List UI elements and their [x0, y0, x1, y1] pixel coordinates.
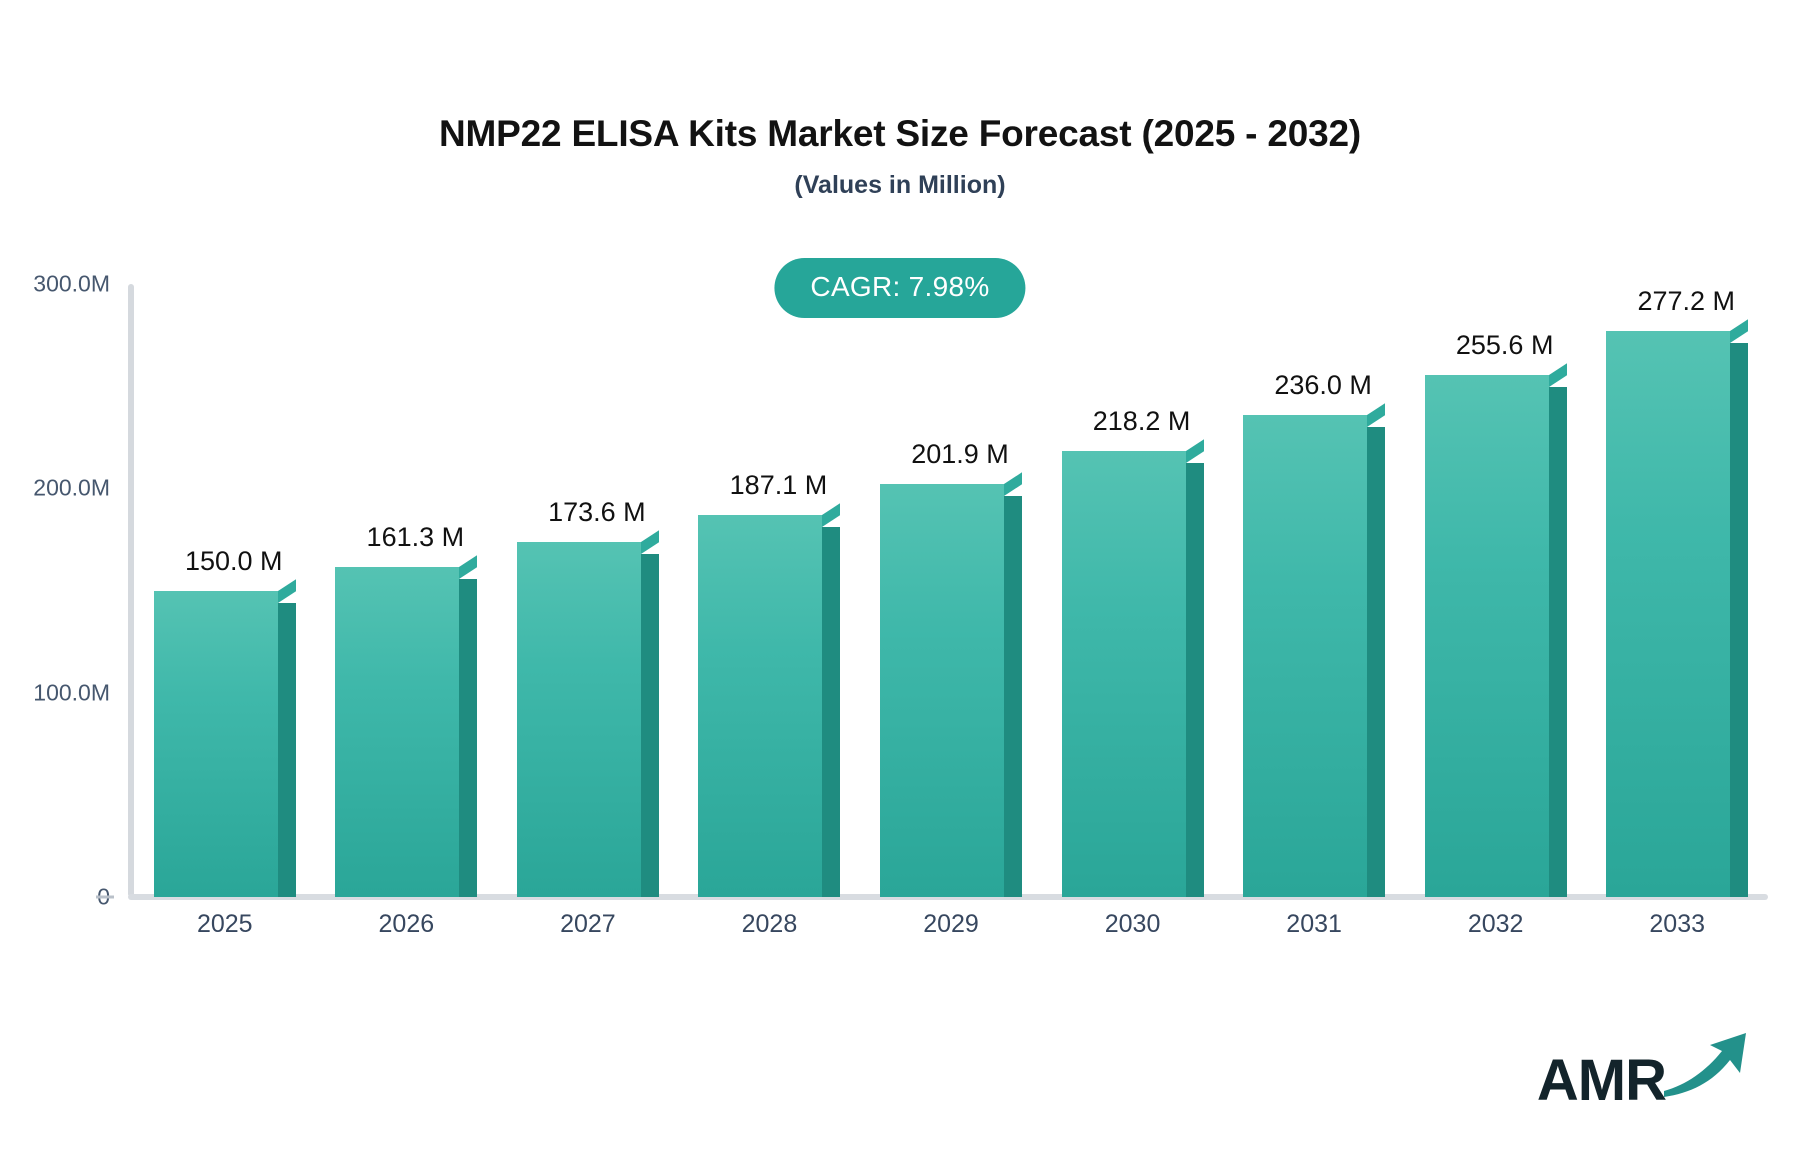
bar-front-face	[1606, 331, 1730, 897]
bar-front-face	[517, 542, 641, 897]
bar-front-face	[698, 515, 822, 897]
bar-side-face	[278, 603, 296, 898]
bar-chart-plot: 0100.0M200.0M300.0M 150.0 M161.3 M173.6 …	[0, 0, 1800, 1000]
bar-value-label: 201.9 M	[830, 439, 1090, 470]
x-axis-tick-label: 2025	[125, 910, 325, 939]
x-axis-tick-label: 2026	[306, 910, 506, 939]
bar[interactable]: 187.1 M	[698, 515, 840, 897]
bar-side-face	[1186, 463, 1204, 897]
bar-front-face	[154, 591, 278, 898]
y-axis-tick-label: 300.0M	[0, 271, 110, 298]
x-axis-tick-label: 2028	[669, 910, 869, 939]
bar-top-face	[641, 531, 659, 555]
bar[interactable]: 150.0 M	[154, 591, 296, 898]
x-axis-tick-label: 2032	[1396, 910, 1596, 939]
amr-wordmark: AMR	[1537, 1052, 1666, 1110]
bar-top-face	[822, 503, 840, 527]
bar-side-face	[1549, 387, 1567, 897]
amr-logo: AMR	[1537, 1029, 1752, 1110]
bar-side-face	[1367, 427, 1385, 897]
y-axis-tick-label: 0	[0, 884, 110, 911]
bar[interactable]: 201.9 M	[880, 484, 1022, 897]
x-axis-tick-label: 2027	[488, 910, 688, 939]
bar[interactable]: 236.0 M	[1243, 415, 1385, 897]
bar[interactable]: 161.3 M	[335, 567, 477, 897]
bar-value-label: 236.0 M	[1193, 370, 1453, 401]
bar-front-face	[880, 484, 1004, 897]
bar-top-face	[1367, 403, 1385, 427]
bar-top-face	[278, 579, 296, 603]
bar-value-label: 187.1 M	[648, 470, 908, 501]
y-axis-tick-label: 100.0M	[0, 679, 110, 706]
bar-top-face	[1186, 439, 1204, 463]
bar-value-label: 218.2 M	[1012, 406, 1272, 437]
bar-top-face	[1004, 473, 1022, 497]
bar-front-face	[335, 567, 459, 897]
x-axis-tick-label: 2030	[1033, 910, 1233, 939]
bar-value-label: 255.6 M	[1375, 330, 1635, 361]
growth-arrow-icon	[1660, 1029, 1752, 1104]
bar-top-face	[1549, 363, 1567, 387]
bar-side-face	[459, 579, 477, 897]
bar-side-face	[641, 554, 659, 897]
x-axis-tick-label: 2033	[1577, 910, 1777, 939]
bar-value-label: 173.6 M	[467, 497, 727, 528]
bar-top-face	[1730, 319, 1748, 343]
y-axis-tick-mark	[96, 896, 114, 899]
bar-top-face	[459, 556, 477, 580]
bar[interactable]: 218.2 M	[1062, 451, 1204, 897]
bar-side-face	[822, 527, 840, 897]
bar-side-face	[1730, 343, 1748, 897]
bar[interactable]: 173.6 M	[517, 542, 659, 897]
bar-front-face	[1243, 415, 1367, 897]
bar[interactable]: 255.6 M	[1425, 375, 1567, 897]
x-axis-tick-label: 2031	[1214, 910, 1414, 939]
x-axis-tick-label: 2029	[851, 910, 1051, 939]
y-axis-tick-label: 200.0M	[0, 475, 110, 502]
bar-front-face	[1062, 451, 1186, 897]
bar[interactable]: 277.2 M	[1606, 331, 1748, 897]
bar-front-face	[1425, 375, 1549, 897]
bar-value-label: 277.2 M	[1556, 286, 1800, 317]
bar-side-face	[1004, 496, 1022, 897]
bar-series: 150.0 M161.3 M173.6 M187.1 M201.9 M218.2…	[134, 284, 1768, 897]
